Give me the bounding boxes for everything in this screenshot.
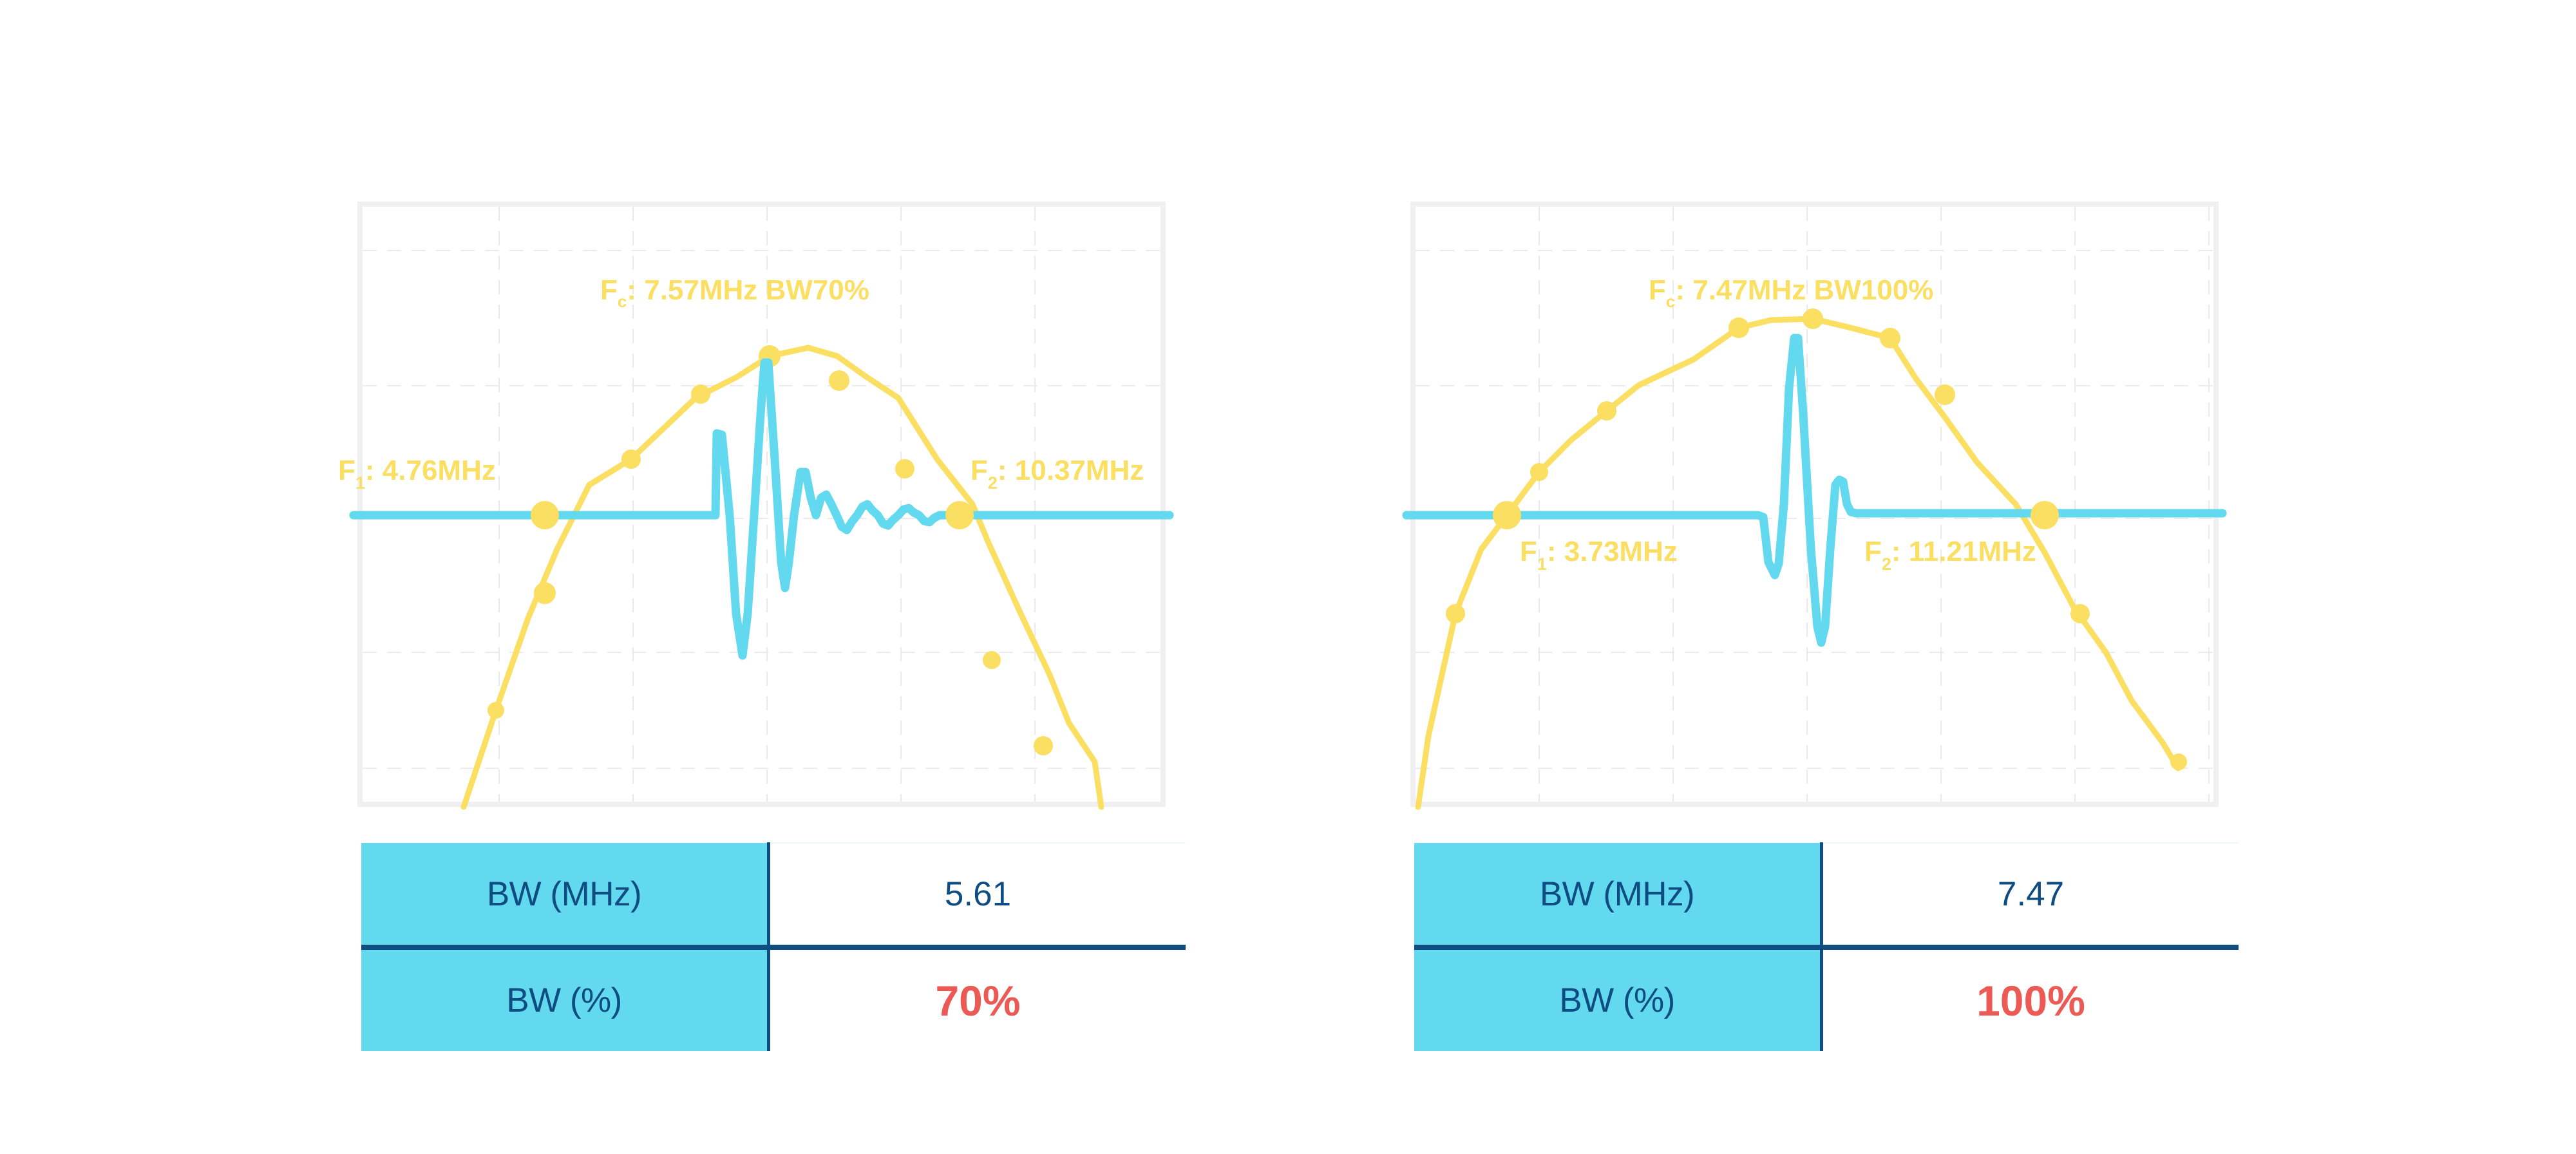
bw-pct-value-bw70: 70% bbox=[769, 947, 1186, 1051]
label-f2-prefix-bw100: F bbox=[1864, 536, 1882, 567]
label-f1-text-bw100: : 3.73MHz bbox=[1547, 536, 1678, 567]
svg-text:Fc: 7.47MHz BW100%: Fc: 7.47MHz BW100% bbox=[1649, 274, 1933, 311]
label-f2-bw100: F2: 11.21MHz bbox=[1864, 536, 2036, 574]
bw-pct-label-bw100: BW (%) bbox=[1414, 947, 1822, 1051]
panel-bw100: Fc: 7.47MHz BW100% F1: 3.73MHz F2: 11.21… bbox=[1410, 202, 2219, 820]
label-f1-prefix-bw70: F bbox=[338, 455, 355, 486]
svg-text:F1: 3.73MHz: F1: 3.73MHz bbox=[1520, 536, 1678, 574]
plot-bw70: Fc: 7.57MHz BW70% F1: 4.76MHz F2: 10.37M… bbox=[357, 202, 1166, 807]
bw-mhz-value-bw100: 7.47 bbox=[1822, 843, 2239, 947]
label-f1-bw100: F1: 3.73MHz bbox=[1520, 536, 1678, 574]
label-f1-sub-bw70: 1 bbox=[355, 473, 365, 493]
plot-bw100: Fc: 7.47MHz BW100% F1: 3.73MHz F2: 11.21… bbox=[1410, 202, 2219, 807]
label-fc-sub-bw70: c bbox=[618, 292, 627, 311]
bw-mhz-value-bw70: 5.61 bbox=[769, 843, 1186, 947]
figure-canvas: Fc: 7.57MHz BW70% F1: 4.76MHz F2: 10.37M… bbox=[0, 0, 2576, 1154]
bw-pct-label-bw70: BW (%) bbox=[361, 947, 769, 1051]
bw-mhz-label-bw70: BW (MHz) bbox=[361, 843, 769, 947]
label-fc-bw70: Fc: 7.57MHz BW70% bbox=[600, 274, 869, 311]
label-f2-text-bw70: : 10.37MHz bbox=[998, 455, 1144, 486]
table-row: BW (MHz) 7.47 bbox=[1414, 843, 2239, 947]
label-f1-prefix-bw100: F bbox=[1520, 536, 1537, 567]
panel-bw70: Fc: 7.57MHz BW70% F1: 4.76MHz F2: 10.37M… bbox=[357, 202, 1166, 820]
table-row: BW (%) 70% bbox=[361, 947, 1186, 1051]
bandwidth-table-bw70: BW (MHz) 5.61 BW (%) 70% bbox=[361, 842, 1182, 1048]
svg-text:F2: 11.21MHz: F2: 11.21MHz bbox=[1864, 536, 2036, 574]
svg-text:Fc: 7.57MHz BW70%: Fc: 7.57MHz BW70% bbox=[600, 274, 869, 311]
label-fc-prefix-bw70: F bbox=[600, 274, 618, 306]
svg-text:F2: 10.37MHz: F2: 10.37MHz bbox=[971, 455, 1144, 493]
waveform-trace-bw70 bbox=[354, 363, 1170, 656]
label-f1-text-bw70: : 4.76MHz bbox=[365, 455, 496, 486]
label-fc-text-bw70: : 7.57MHz BW70% bbox=[627, 274, 869, 306]
label-fc-prefix-bw100: F bbox=[1649, 274, 1666, 306]
label-f2-sub-bw100: 2 bbox=[1882, 554, 1891, 574]
bw-pct-value-bw100: 100% bbox=[1822, 947, 2239, 1051]
label-f2-sub-bw70: 2 bbox=[988, 473, 998, 493]
table-row: BW (%) 100% bbox=[1414, 947, 2239, 1051]
label-f2-bw70: F2: 10.37MHz bbox=[971, 455, 1144, 493]
svg-text:F1: 4.76MHz: F1: 4.76MHz bbox=[338, 455, 496, 493]
label-f1-sub-bw100: 1 bbox=[1537, 554, 1547, 574]
label-fc-bw100: Fc: 7.47MHz BW100% bbox=[1649, 274, 1933, 311]
label-f2-text-bw100: : 11.21MHz bbox=[1891, 536, 2036, 567]
label-fc-sub-bw100: c bbox=[1666, 292, 1675, 311]
label-fc-text-bw100: : 7.47MHz BW100% bbox=[1675, 274, 1933, 306]
label-f2-prefix-bw70: F bbox=[971, 455, 988, 486]
table-row: BW (MHz) 5.61 bbox=[361, 843, 1186, 947]
bandwidth-table-bw100: BW (MHz) 7.47 BW (%) 100% bbox=[1414, 842, 2235, 1048]
bw-mhz-label-bw100: BW (MHz) bbox=[1414, 843, 1822, 947]
label-f1-bw70: F1: 4.76MHz bbox=[338, 455, 496, 493]
